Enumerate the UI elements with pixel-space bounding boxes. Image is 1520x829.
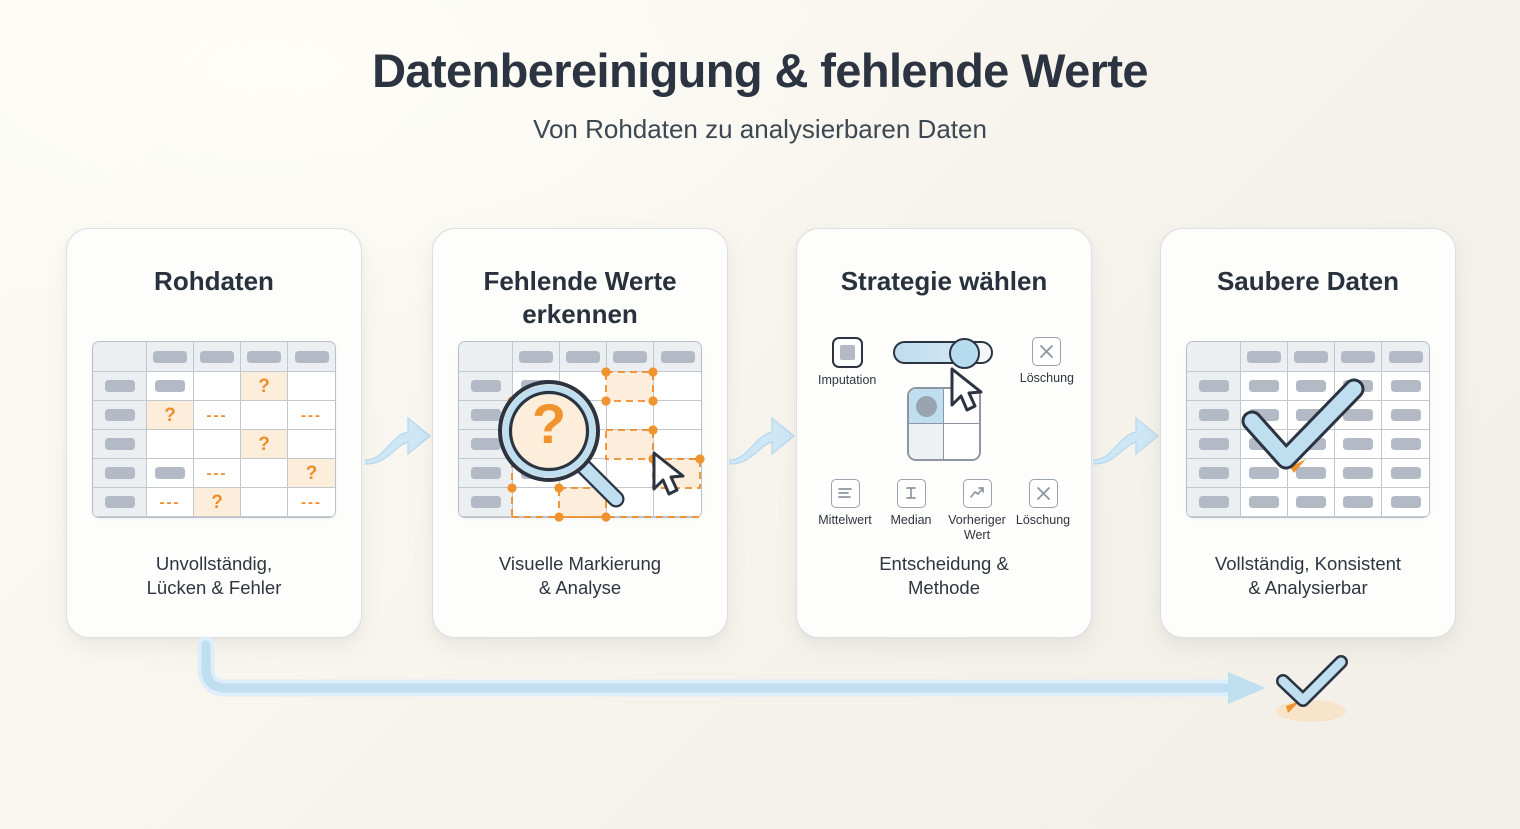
check-shadow bbox=[1276, 700, 1346, 722]
bottom-flow bbox=[0, 0, 1520, 829]
feedback-loop-arrow bbox=[206, 645, 1266, 704]
infographic-canvas: Datenbereinigung & fehlende Werte Von Ro… bbox=[0, 0, 1520, 829]
bottom-check-group bbox=[1276, 662, 1346, 722]
